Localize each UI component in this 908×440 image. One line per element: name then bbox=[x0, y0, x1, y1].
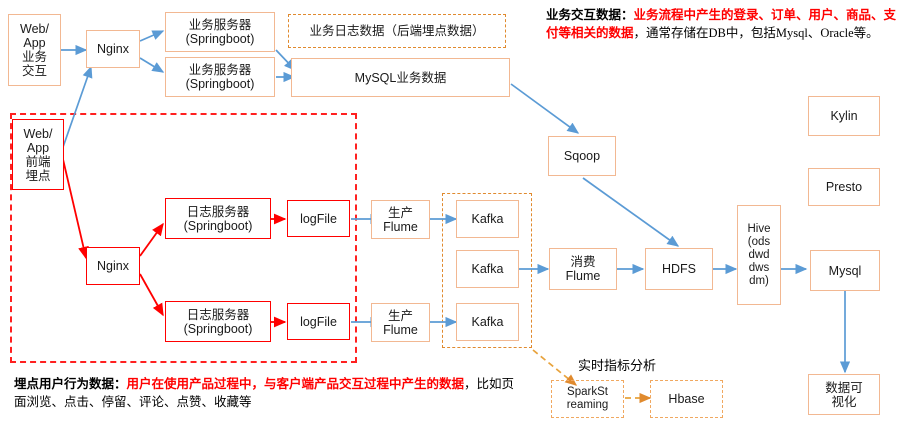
note-business-heading: 业务交互数据： bbox=[546, 8, 634, 22]
node-log-server-1[interactable]: 日志服务器 (Springboot) bbox=[165, 198, 271, 239]
diagram-canvas: Web/ App 业务 交互 Nginx 业务服务器 (Springboot) … bbox=[0, 0, 908, 440]
node-mysql-business-data[interactable]: MySQL业务数据 bbox=[291, 58, 510, 97]
node-kafka-1[interactable]: Kafka bbox=[456, 200, 519, 238]
note-tracking-heading: 埋点用户行为数据： bbox=[14, 377, 127, 391]
node-business-log-data[interactable]: 业务日志数据（后端埋点数据） bbox=[288, 14, 506, 48]
node-web-app-frontend[interactable]: Web/ App 前端 埋点 bbox=[12, 119, 64, 190]
node-data-visualization[interactable]: 数据可 视化 bbox=[808, 374, 880, 415]
node-business-server-1[interactable]: 业务服务器 (Springboot) bbox=[165, 12, 275, 52]
note-tracking-red: 用户在使用产品过程中，与客户端产品交互过程中产生的数据 bbox=[127, 377, 465, 391]
node-nginx-frontend[interactable]: Nginx bbox=[86, 247, 140, 285]
note-business-tail: ，通常存储在DB中，包括Mysql、Oracle等。 bbox=[634, 26, 879, 40]
note-business-data: 业务交互数据：业务流程中产生的登录、订单、用户、商品、支付等相关的数据，通常存储… bbox=[546, 6, 908, 42]
node-produce-flume-1[interactable]: 生产 Flume bbox=[371, 200, 430, 239]
node-kafka-2[interactable]: Kafka bbox=[456, 250, 519, 288]
node-log-server-2[interactable]: 日志服务器 (Springboot) bbox=[165, 301, 271, 342]
node-kafka-3[interactable]: Kafka bbox=[456, 303, 519, 341]
node-consume-flume[interactable]: 消费 Flume bbox=[549, 248, 617, 290]
node-mysql-output[interactable]: Mysql bbox=[810, 250, 880, 291]
note-tracking-data: 埋点用户行为数据：用户在使用产品过程中，与客户端产品交互过程中产生的数据，比如页… bbox=[14, 375, 519, 411]
node-spark-streaming[interactable]: SparkSt reaming bbox=[551, 380, 624, 418]
node-logfile-1[interactable]: logFile bbox=[287, 200, 350, 237]
node-hdfs[interactable]: HDFS bbox=[645, 248, 713, 290]
node-hbase[interactable]: Hbase bbox=[650, 380, 723, 418]
node-produce-flume-2[interactable]: 生产 Flume bbox=[371, 303, 430, 342]
node-presto[interactable]: Presto bbox=[808, 168, 880, 206]
label-realtime-analysis: 实时指标分析 bbox=[578, 355, 656, 374]
node-hive[interactable]: Hive (ods dwd dws dm) bbox=[737, 205, 781, 305]
node-kylin[interactable]: Kylin bbox=[808, 96, 880, 136]
node-web-app-business[interactable]: Web/ App 业务 交互 bbox=[8, 14, 61, 86]
node-business-server-2[interactable]: 业务服务器 (Springboot) bbox=[165, 57, 275, 97]
node-nginx-business[interactable]: Nginx bbox=[86, 30, 140, 68]
node-sqoop[interactable]: Sqoop bbox=[548, 136, 616, 176]
node-logfile-2[interactable]: logFile bbox=[287, 303, 350, 340]
